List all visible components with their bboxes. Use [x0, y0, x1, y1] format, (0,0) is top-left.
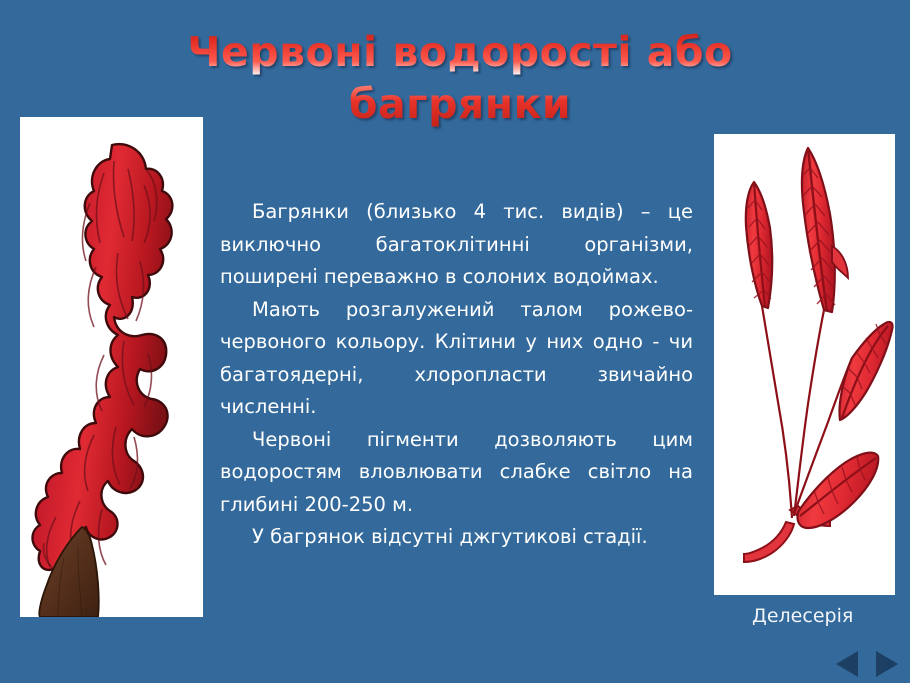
previous-slide-arrow-icon[interactable]: [836, 651, 858, 677]
porphyra-illustration-icon: [20, 117, 203, 617]
page-title: Червоні водорості або багрянки: [150, 26, 770, 130]
slide-navigation: [836, 649, 902, 679]
figure-delesseria: [714, 134, 895, 595]
delesseria-illustration-icon: [714, 134, 895, 595]
body-paragraph-3: Червоні пігменти дозволяють цим водорост…: [220, 424, 693, 522]
presentation-slide: Червоні водорості або багрянки: [0, 0, 910, 683]
body-paragraph-1: Багрянки (близько 4 тис. видів) – це вик…: [220, 196, 693, 294]
slide-body-text: Багрянки (близько 4 тис. видів) – це вик…: [220, 196, 693, 554]
body-paragraph-4: У багрянок відсутні джгутикові стадії.: [220, 521, 693, 554]
figure-porphyra: Порфіра: [20, 117, 203, 617]
body-paragraph-2: Мають розгалужений талом рожево-червоног…: [220, 294, 693, 424]
figure-caption-delesseria: Делесерія: [752, 605, 853, 627]
next-slide-arrow-icon[interactable]: [876, 651, 898, 677]
